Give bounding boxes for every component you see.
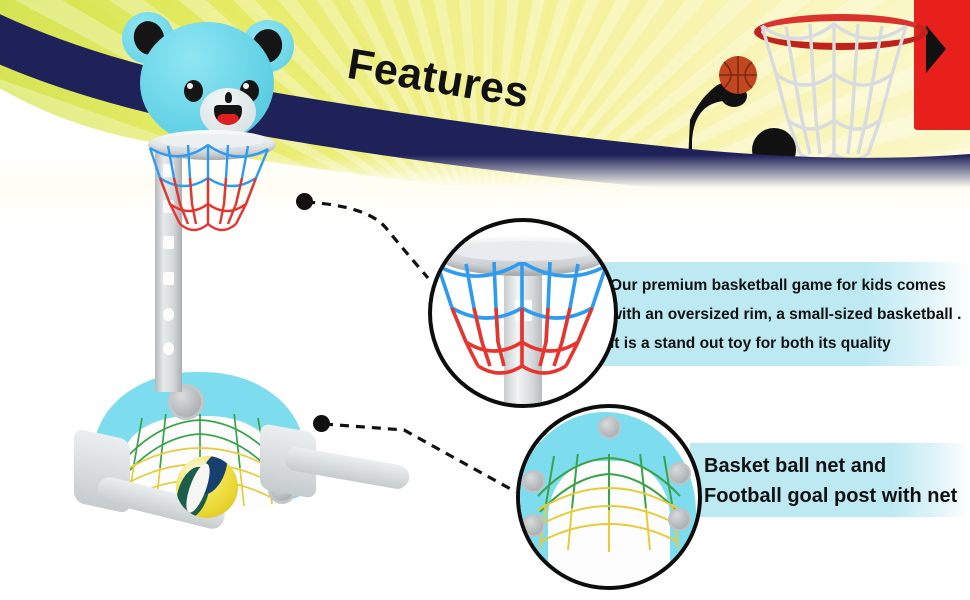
- goal-bolt: [598, 416, 621, 439]
- bear-backboard: [122, 12, 292, 147]
- leader-dot-1: [296, 193, 313, 210]
- bear-eye-left-icon: [184, 80, 203, 102]
- goal-bolt: [668, 508, 691, 531]
- callout-text-panel-2: Basket ball net and Football goal post w…: [690, 443, 970, 517]
- goal-bolt: [522, 514, 545, 537]
- goal-bolt: [668, 462, 691, 485]
- callout-1-line-2: with an oversized rim, a small-sized bas…: [610, 300, 970, 329]
- callout-2-line-1: Basket ball net and: [704, 451, 970, 481]
- callout-1-line-3: It is a stand out toy for both its quali…: [610, 329, 970, 358]
- bear-head-icon: [140, 22, 274, 144]
- product-image: [60, 4, 390, 600]
- callout-1-line-1: Our premium basketball game for kids com…: [610, 271, 970, 300]
- bear-nose-icon: [225, 92, 232, 103]
- basketball-net: [140, 144, 290, 264]
- basketball-net-closeup: [428, 218, 618, 408]
- football-goal-net-closeup: [516, 404, 702, 590]
- product-feature-infographic: Features: [0, 0, 970, 600]
- goal-bolt: [522, 470, 545, 493]
- bear-snout-icon: [200, 88, 256, 136]
- callout-2-line-2: Football goal post with net: [704, 481, 970, 511]
- football-ball: [176, 456, 238, 518]
- bear-mouth-icon: [214, 105, 242, 125]
- leader-dot-2: [313, 415, 330, 432]
- callout-text-panel-1: Our premium basketball game for kids com…: [596, 262, 970, 366]
